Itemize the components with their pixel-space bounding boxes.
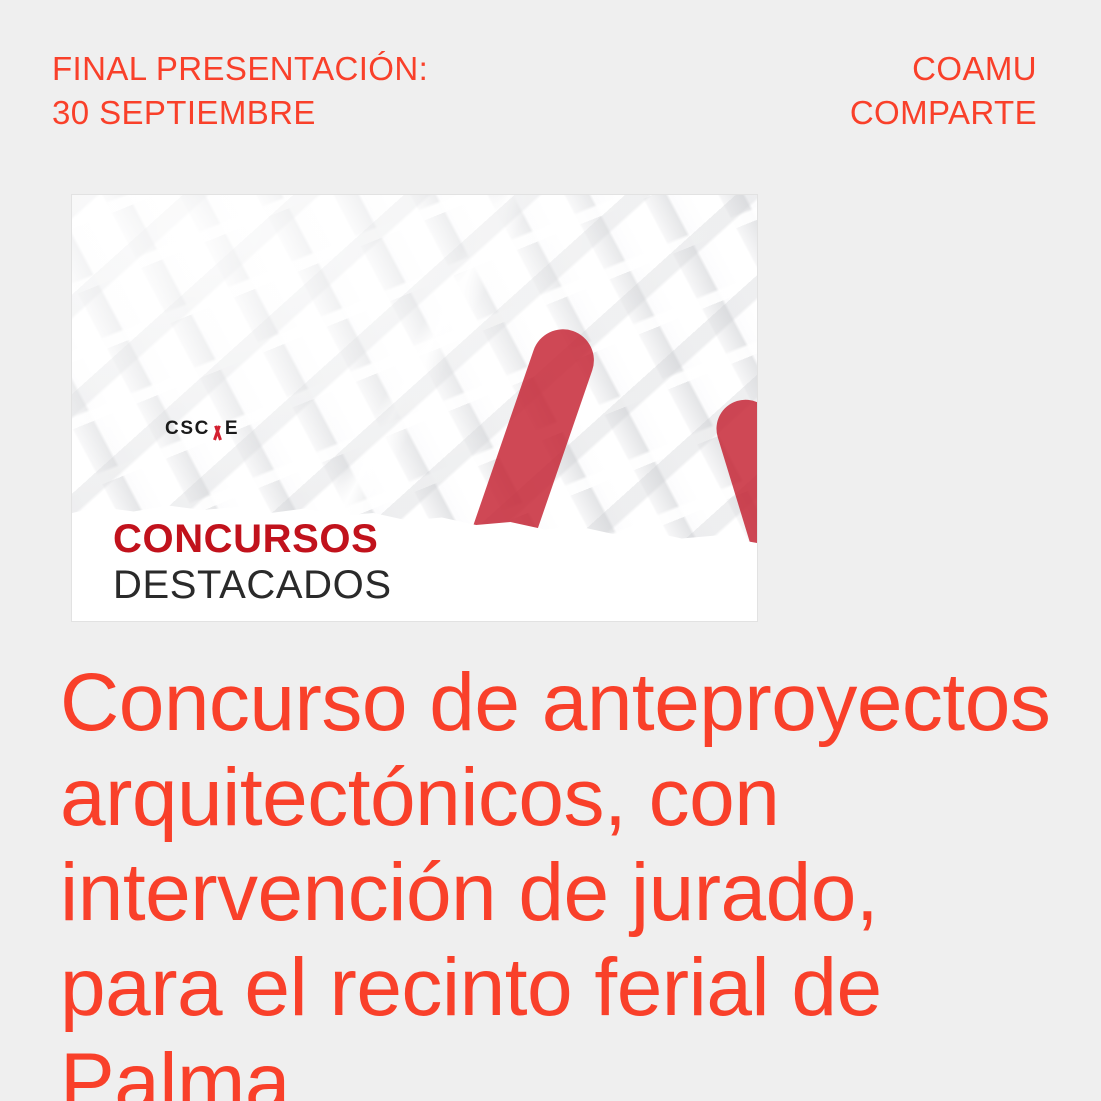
competition-image-card: CSC E CONCURSOS DESTACADOS <box>71 194 758 622</box>
poster-canvas: FINAL PRESENTACIÓN: 30 SEPTIEMBRE COAMU … <box>0 0 1101 1101</box>
cscae-logo-text-post: E <box>225 418 239 440</box>
competition-headline: Concurso de anteproyectos arquitectónico… <box>60 655 1060 1101</box>
card-title: CONCURSOS DESTACADOS <box>113 519 392 605</box>
lambda-a-icon <box>211 425 224 440</box>
cscae-logo-text-pre: CSC <box>165 418 210 440</box>
card-title-line-2: DESTACADOS <box>113 565 392 605</box>
cscae-logo: CSC E <box>165 418 239 440</box>
header-deadline-text: FINAL PRESENTACIÓN: 30 SEPTIEMBRE <box>52 47 428 135</box>
header-brand-text: COAMU COMPARTE <box>850 47 1037 135</box>
card-title-line-1: CONCURSOS <box>113 519 392 559</box>
